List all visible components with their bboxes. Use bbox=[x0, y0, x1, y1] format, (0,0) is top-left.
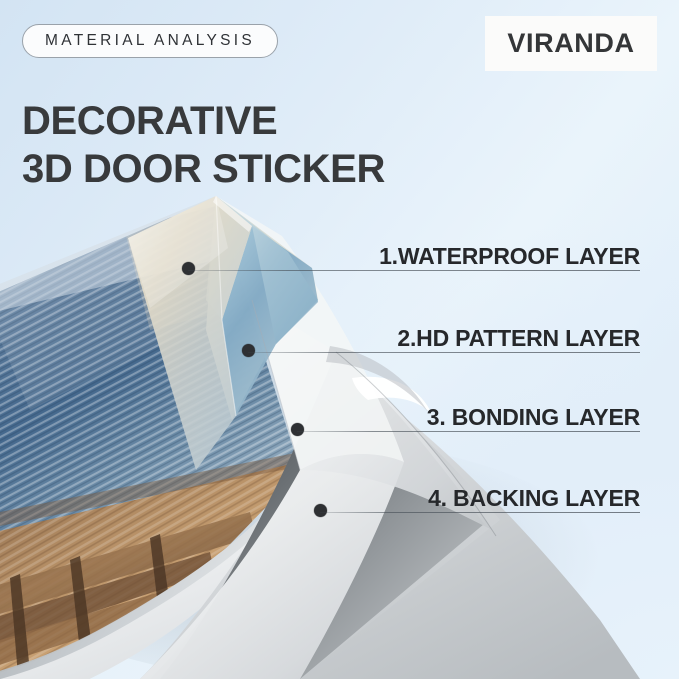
callout-label-1: 1.WATERPROOF LAYER bbox=[220, 243, 640, 273]
callout-label-4: 4. BACKING LAYER bbox=[220, 485, 640, 515]
callout-label-2: 2.HD PATTERN LAYER bbox=[220, 325, 640, 355]
callout-label-text-2: 2.HD PATTERN LAYER bbox=[397, 325, 640, 355]
brand-logo: VIRANDA bbox=[485, 16, 657, 71]
callout-label-3: 3. BONDING LAYER bbox=[220, 404, 640, 434]
callout-label-text-1: 1.WATERPROOF LAYER bbox=[379, 243, 640, 273]
callout-dot-1 bbox=[182, 262, 195, 275]
page-title-line-1: DECORATIVE bbox=[22, 99, 277, 143]
page-title-line-2: 3D DOOR STICKER bbox=[22, 145, 385, 193]
eyebrow-badge: MATERIAL ANALYSIS bbox=[22, 24, 278, 58]
page-title: DECORATIVE 3D DOOR STICKER bbox=[22, 97, 385, 193]
callout-label-text-3: 3. BONDING LAYER bbox=[427, 404, 640, 434]
eyebrow-label: MATERIAL ANALYSIS bbox=[45, 32, 255, 50]
poster-canvas: MATERIAL ANALYSIS DECORATIVE 3D DOOR STI… bbox=[0, 0, 679, 679]
callout-label-text-4: 4. BACKING LAYER bbox=[428, 485, 640, 515]
brand-logo-text: VIRANDA bbox=[507, 28, 634, 59]
